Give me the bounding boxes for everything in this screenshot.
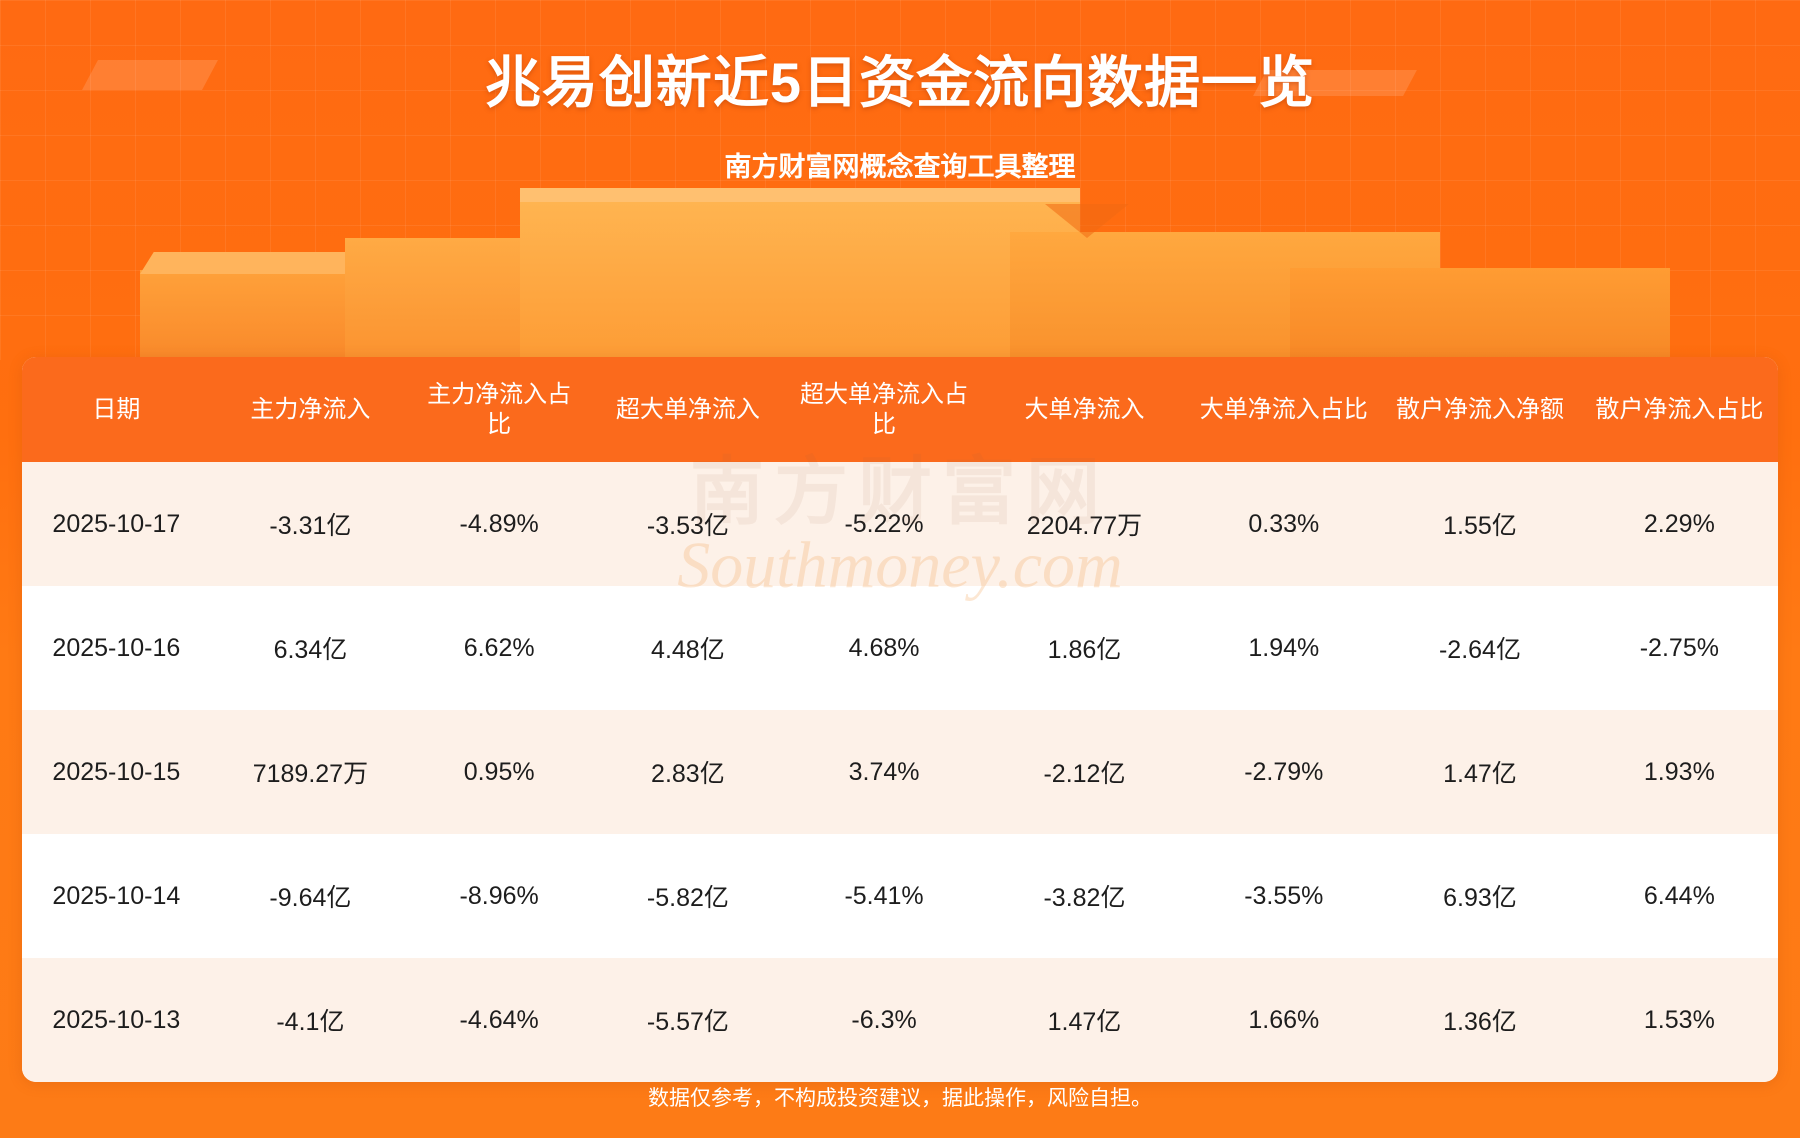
cell-xl-net: 2.83亿 bbox=[588, 710, 787, 834]
cell-main-net: -3.31亿 bbox=[211, 462, 410, 586]
cell-main-pct: 0.95% bbox=[410, 710, 588, 834]
column-header-xl-pct: 超大单净流入占比 bbox=[788, 357, 981, 462]
cell-main-net: 7189.27万 bbox=[211, 710, 410, 834]
cell-xl-pct: 3.74% bbox=[788, 710, 981, 834]
cell-lg-pct: -2.79% bbox=[1188, 710, 1379, 834]
column-header-retail-pct: 散户净流入占比 bbox=[1581, 357, 1778, 462]
cell-xl-net: -5.82亿 bbox=[588, 834, 787, 958]
cell-lg-net: -2.12亿 bbox=[981, 710, 1189, 834]
cell-xl-net: -3.53亿 bbox=[588, 462, 787, 586]
column-header-lg-net: 大单净流入 bbox=[981, 357, 1189, 462]
column-header-retail-net: 散户净流入净额 bbox=[1379, 357, 1580, 462]
podium-block-center bbox=[520, 202, 1080, 360]
column-header-date: 日期 bbox=[22, 357, 211, 462]
page-title: 兆易创新近5日资金流向数据一览 bbox=[0, 38, 1800, 119]
cell-lg-net: 2204.77万 bbox=[981, 462, 1189, 586]
column-header-xl-net: 超大单净流入 bbox=[588, 357, 787, 462]
table-row: 2025-10-17 -3.31亿 -4.89% -3.53亿 -5.22% 2… bbox=[22, 462, 1778, 586]
cell-date: 2025-10-16 bbox=[22, 586, 211, 710]
cell-retail-net: 1.47亿 bbox=[1379, 710, 1580, 834]
cell-lg-pct: 0.33% bbox=[1188, 462, 1379, 586]
table-row: 2025-10-16 6.34亿 6.62% 4.48亿 4.68% 1.86亿… bbox=[22, 586, 1778, 710]
cell-retail-net: 1.36亿 bbox=[1379, 958, 1580, 1082]
cell-lg-pct: -3.55% bbox=[1188, 834, 1379, 958]
cell-retail-pct: 1.53% bbox=[1581, 958, 1778, 1082]
cell-lg-net: 1.47亿 bbox=[981, 958, 1189, 1082]
podium-decoration bbox=[0, 210, 1800, 360]
table-row: 2025-10-13 -4.1亿 -4.64% -5.57亿 -6.3% 1.4… bbox=[22, 958, 1778, 1082]
cell-main-net: -9.64亿 bbox=[211, 834, 410, 958]
cell-retail-pct: 1.93% bbox=[1581, 710, 1778, 834]
cell-main-pct: -8.96% bbox=[410, 834, 588, 958]
cell-retail-net: 6.93亿 bbox=[1379, 834, 1580, 958]
cell-retail-pct: 2.29% bbox=[1581, 462, 1778, 586]
table-header-row: 日期 主力净流入 主力净流入占比 超大单净流入 超大单净流入占比 大单净流入 大… bbox=[22, 357, 1778, 462]
cell-date: 2025-10-15 bbox=[22, 710, 211, 834]
disclaimer-text: 数据仅参考，不构成投资建议，据此操作，风险自担。 bbox=[0, 1082, 1800, 1112]
table-row: 2025-10-15 7189.27万 0.95% 2.83亿 3.74% -2… bbox=[22, 710, 1778, 834]
data-table-card: 日期 主力净流入 主力净流入占比 超大单净流入 超大单净流入占比 大单净流入 大… bbox=[22, 357, 1778, 1082]
cell-xl-pct: -5.22% bbox=[788, 462, 981, 586]
cell-xl-pct: 4.68% bbox=[788, 586, 981, 710]
cell-main-pct: -4.64% bbox=[410, 958, 588, 1082]
cell-xl-net: -5.57亿 bbox=[588, 958, 787, 1082]
cell-date: 2025-10-17 bbox=[22, 462, 211, 586]
page-subtitle: 南方财富网概念查询工具整理 bbox=[0, 145, 1800, 184]
cell-lg-net: -3.82亿 bbox=[981, 834, 1189, 958]
column-header-main-pct: 主力净流入占比 bbox=[410, 357, 588, 462]
cell-retail-net: 1.55亿 bbox=[1379, 462, 1580, 586]
cell-retail-net: -2.64亿 bbox=[1379, 586, 1580, 710]
cell-retail-pct: 6.44% bbox=[1581, 834, 1778, 958]
cell-lg-net: 1.86亿 bbox=[981, 586, 1189, 710]
cell-main-pct: -4.89% bbox=[410, 462, 588, 586]
column-header-lg-pct: 大单净流入占比 bbox=[1188, 357, 1379, 462]
cell-main-net: -4.1亿 bbox=[211, 958, 410, 1082]
cell-date: 2025-10-13 bbox=[22, 958, 211, 1082]
table-body: 2025-10-17 -3.31亿 -4.89% -3.53亿 -5.22% 2… bbox=[22, 462, 1778, 1082]
cell-xl-pct: -5.41% bbox=[788, 834, 981, 958]
column-header-main-net: 主力净流入 bbox=[211, 357, 410, 462]
podium-block-right bbox=[1290, 268, 1670, 360]
cell-date: 2025-10-14 bbox=[22, 834, 211, 958]
infographic-page: 兆易创新近5日资金流向数据一览 南方财富网概念查询工具整理 日期 主力净流入 主… bbox=[0, 0, 1800, 1138]
cell-retail-pct: -2.75% bbox=[1581, 586, 1778, 710]
cell-lg-pct: 1.94% bbox=[1188, 586, 1379, 710]
table-row: 2025-10-14 -9.64亿 -8.96% -5.82亿 -5.41% -… bbox=[22, 834, 1778, 958]
fund-flow-table: 日期 主力净流入 主力净流入占比 超大单净流入 超大单净流入占比 大单净流入 大… bbox=[22, 357, 1778, 1082]
cell-xl-net: 4.48亿 bbox=[588, 586, 787, 710]
cell-xl-pct: -6.3% bbox=[788, 958, 981, 1082]
cell-main-pct: 6.62% bbox=[410, 586, 588, 710]
podium-notch bbox=[1045, 204, 1129, 238]
cell-lg-pct: 1.66% bbox=[1188, 958, 1379, 1082]
cell-main-net: 6.34亿 bbox=[211, 586, 410, 710]
